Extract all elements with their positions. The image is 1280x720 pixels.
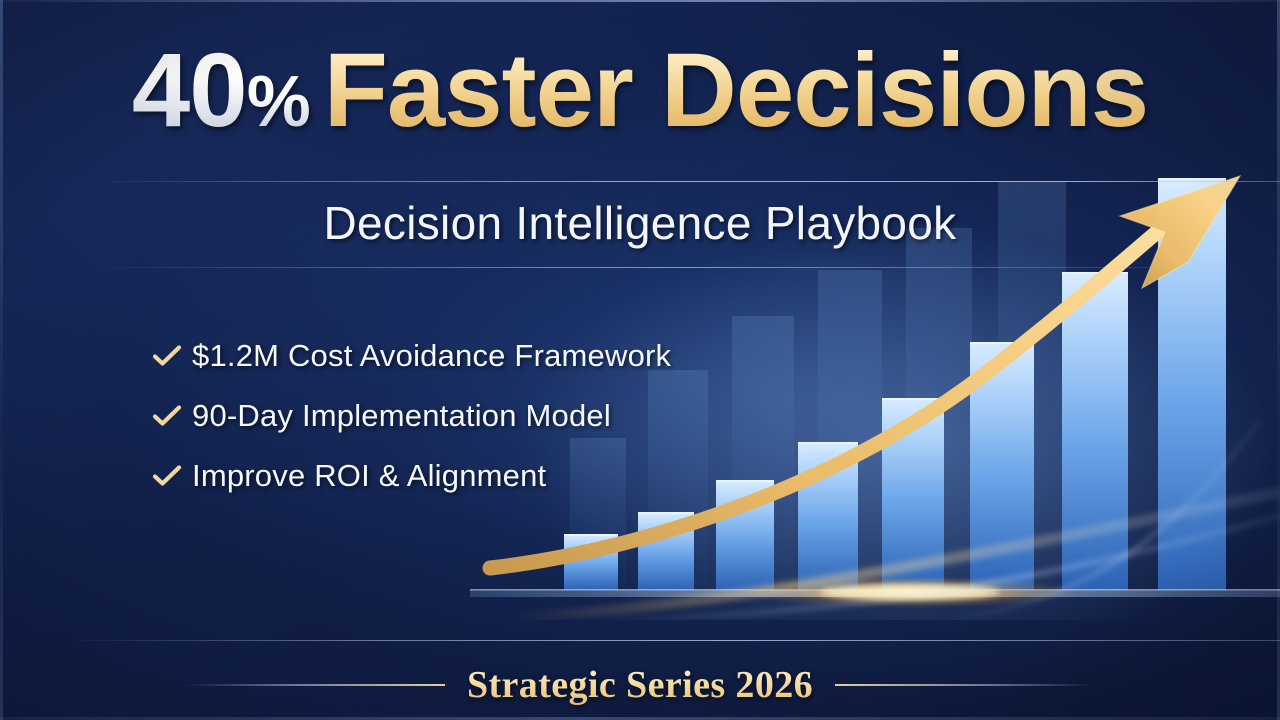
headline-rest: Faster Decisions xyxy=(324,32,1148,149)
frame-edge-left xyxy=(0,0,3,720)
footer: Strategic Series 2026 xyxy=(0,658,1280,712)
page-title: 40%Faster Decisions xyxy=(0,38,1280,143)
footer-rule-right xyxy=(835,684,1095,686)
headline-stat: 40 xyxy=(132,32,247,149)
divider-footer xyxy=(70,640,1280,641)
list-item-label: 90-Day Implementation Model xyxy=(192,398,611,434)
headline-percent: % xyxy=(247,62,310,142)
footer-label: Strategic Series 2026 xyxy=(467,663,813,707)
list-item: $1.2M Cost Avoidance Framework xyxy=(152,326,671,386)
divider-headline xyxy=(90,181,1280,182)
divider-subtitle xyxy=(90,267,1160,268)
footer-rule-left xyxy=(185,684,445,686)
check-icon xyxy=(152,404,192,428)
list-item: 90-Day Implementation Model xyxy=(152,386,671,446)
page-subtitle: Decision Intelligence Playbook xyxy=(0,196,1280,250)
slide-root: 40%Faster Decisions Decision Intelligenc… xyxy=(0,0,1280,720)
list-item-label: $1.2M Cost Avoidance Framework xyxy=(192,338,671,374)
benefit-list: $1.2M Cost Avoidance Framework 90-Day Im… xyxy=(152,326,671,506)
check-icon xyxy=(152,344,192,368)
frame-edge-top xyxy=(0,0,1280,2)
list-item-label: Improve ROI & Alignment xyxy=(192,458,546,494)
check-icon xyxy=(152,464,192,488)
list-item: Improve ROI & Alignment xyxy=(152,446,671,506)
